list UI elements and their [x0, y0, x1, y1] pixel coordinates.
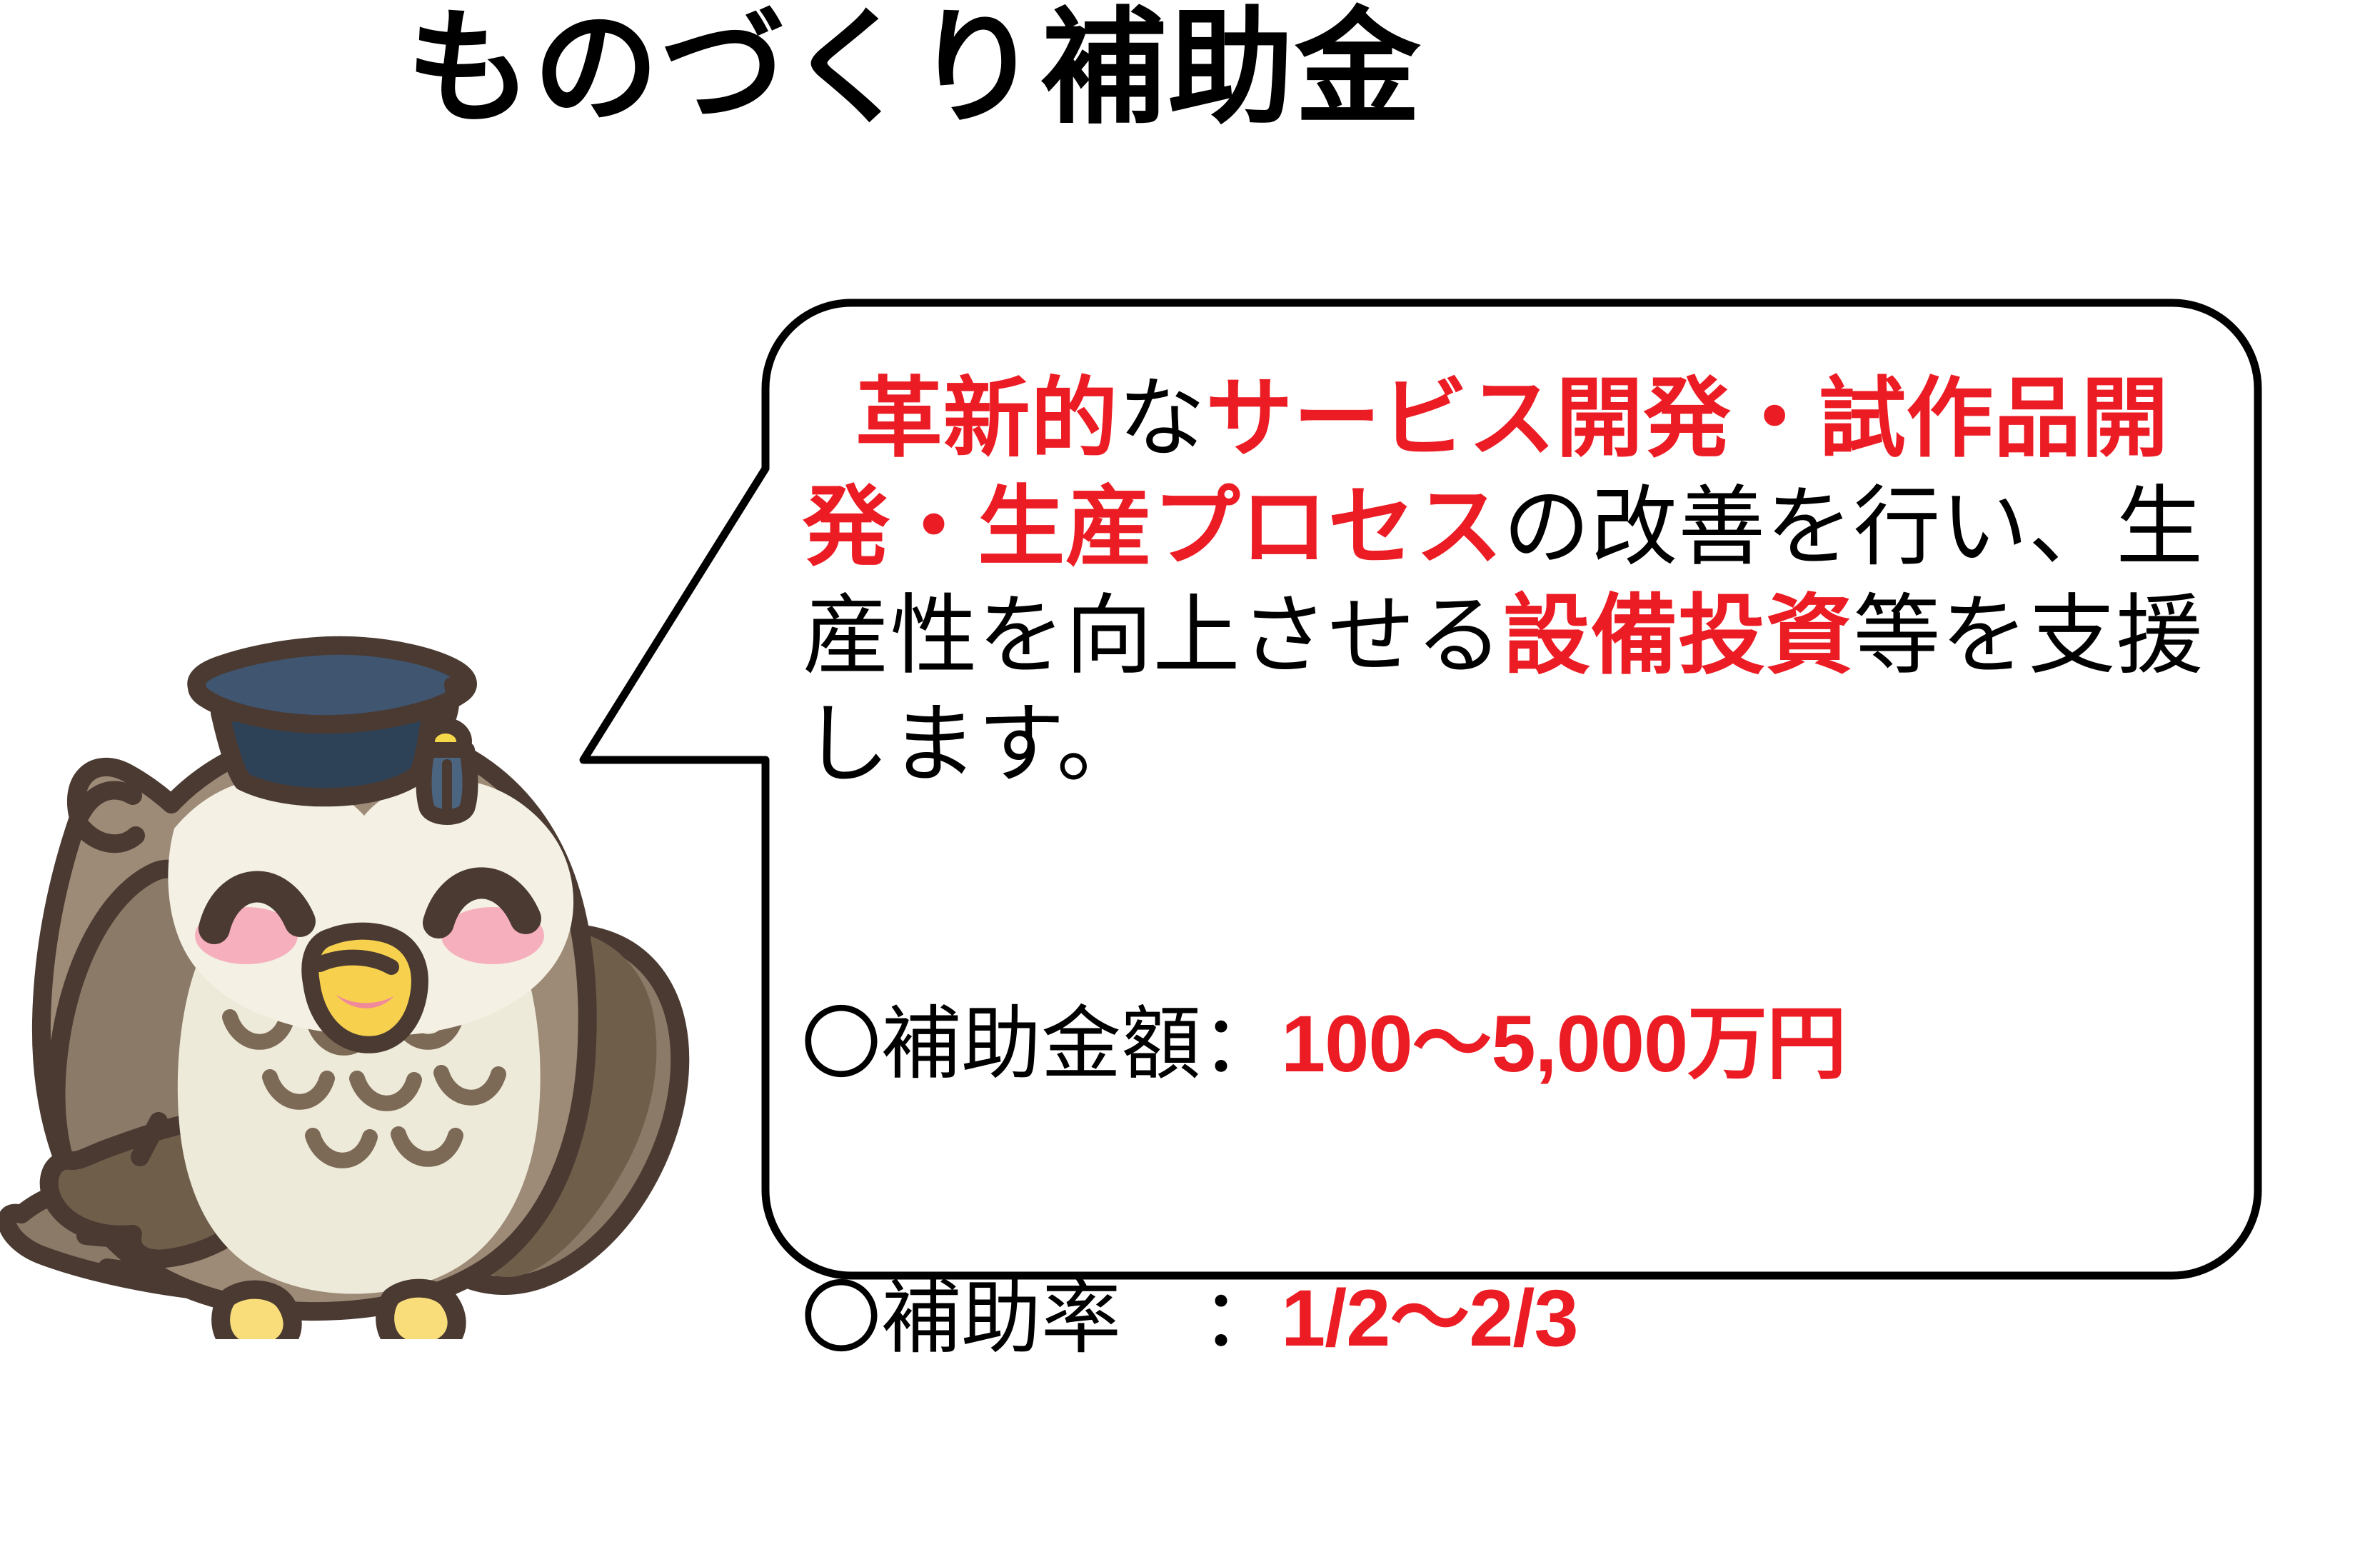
para-l1-black1: な — [1118, 370, 1206, 467]
bubble-bullet-list: 〇補助金額：100〜5,000万円 〇補助率 ：1/2〜2/3 — [801, 816, 2222, 1547]
bullet-label-rate: 〇補助率 ： — [801, 1273, 1281, 1363]
para-l4-red1: 投資 — [1678, 587, 1853, 684]
bullet-row-amount: 〇補助金額：100〜5,000万円 — [801, 998, 2222, 1090]
speech-bubble: 革新的なサービス開発・試作品開発・生産プロセスの改善を行い、生産性を向上させる設… — [765, 303, 2258, 1276]
bullet-row-rate: 〇補助率 ：1/2〜2/3 — [801, 1273, 2222, 1364]
speech-bubble-content: 革新的なサービス開発・試作品開発・生産プロセスの改善を行い、生産性を向上させる設… — [765, 303, 2258, 1276]
bullet-label-amount: 〇補助金額： — [801, 999, 1281, 1088]
bullet-value-amount: 100〜5,000万円 — [1281, 999, 1846, 1088]
owl-beak — [310, 931, 420, 1045]
para-l1-red2: サービス開発・試作 — [1205, 370, 1994, 467]
para-l3-red1: 設備 — [1503, 587, 1678, 684]
page-title: ものづくり補助金 — [0, 6, 1828, 131]
owl-mascot — [0, 493, 728, 1339]
bubble-paragraph: 革新的なサービス開発・試作品開発・生産プロセスの改善を行い、生産性を向上させる設… — [803, 364, 2224, 798]
para-l2-black1: の改善を — [1503, 479, 1853, 576]
bullet-value-rate: 1/2〜2/3 — [1281, 1273, 1578, 1363]
para-l1-red1: 革新的 — [855, 370, 1118, 467]
